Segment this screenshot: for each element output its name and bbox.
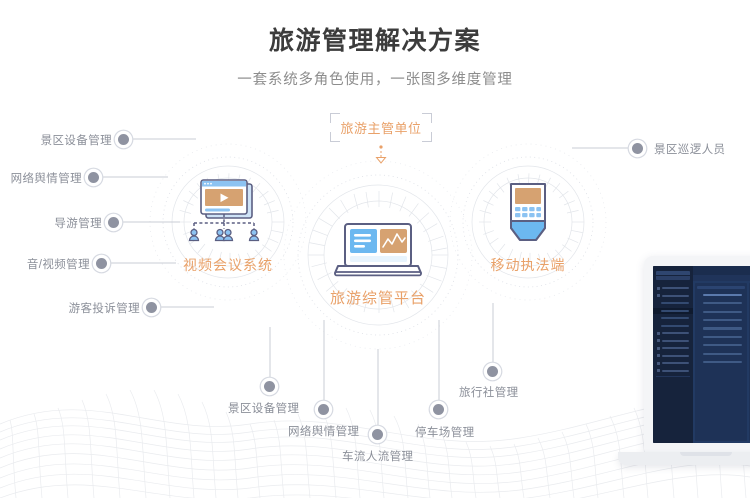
tree-row[interactable] [697,342,745,348]
handheld-device-icon [478,178,578,250]
tree-row[interactable] [697,326,745,332]
dashboard-sidebar-footer [656,376,690,385]
authority-badge-label: 旅游主管单位 [330,113,432,142]
tree-row[interactable] [697,309,745,315]
laptop-lid [644,256,750,453]
laptop-notch [680,452,732,456]
leaf-dot-bottom-0[interactable] [264,381,275,392]
leaf-label-right-0[interactable]: 景区巡逻人员 [654,141,725,157]
dashboard-menu-item[interactable] [653,300,693,307]
dashboard-menu-item[interactable] [653,368,693,375]
dashboard-menu-item[interactable] [653,330,693,337]
tree-row[interactable] [697,351,745,357]
leaf-dot-left-0[interactable] [118,134,129,145]
dashboard-menu-item[interactable] [653,360,693,367]
leaf-dot-bottom-1[interactable] [318,404,329,415]
dashboard-sidebar [653,266,693,443]
leaf-dot-right-0[interactable] [632,143,643,154]
node-label-mobile-enforcement: 移动执法端 [478,255,578,275]
header: 旅游管理解决方案 一套系统多角色使用，一张图多维度管理 [0,24,750,91]
dashboard-main [693,266,750,443]
leaf-label-left-4[interactable]: 游客投诉管理 [28,300,140,316]
leaf-dot-left-2[interactable] [108,217,119,228]
dashboard-topbar [693,266,750,275]
dashboard-ui [653,266,750,443]
leaf-label-bottom-2[interactable]: 车流人流管理 [342,448,413,464]
dashboard-menu-item[interactable] [653,293,693,300]
bottom-connector-lines [270,303,493,434]
leaf-dot-bottom-4[interactable] [487,366,498,377]
tree-row[interactable] [697,359,745,365]
node-label-video-conference: 视频会议系统 [168,255,288,275]
tree-row[interactable] [697,334,745,340]
page-subtitle: 一套系统多角色使用，一张图多维度管理 [0,69,750,91]
leaf-dot-left-3[interactable] [96,258,107,269]
video-window-icon [168,178,288,250]
leaf-label-left-3[interactable]: 音/视频管理 [0,256,90,272]
node-mobile-enforcement[interactable]: 移动执法端 [478,178,578,275]
dashboard-tree-panel[interactable] [695,283,747,441]
node-label-platform: 旅游综管平台 [318,287,438,308]
laptop-dashboard-icon [318,222,438,282]
dashboard-menu-item[interactable] [653,345,693,352]
node-video-conference[interactable]: 视频会议系统 [168,178,288,275]
leaf-label-left-2[interactable]: 导游管理 [0,215,102,231]
laptop-dashboard-mockup [618,256,750,498]
leaf-dot-left-1[interactable] [88,172,99,183]
laptop-screen [653,266,750,443]
badge-arrow-connector [377,145,386,163]
dashboard-menu-item[interactable] [653,285,693,292]
dashboard-menu-item[interactable] [653,315,693,322]
dashboard-menu-item-active[interactable] [653,308,693,315]
dashboard-menu-item[interactable] [653,323,693,330]
node-platform[interactable]: 旅游综管平台 [318,222,438,308]
authority-badge[interactable]: 旅游主管单位 [330,113,432,142]
leaf-label-left-0[interactable]: 景区设备管理 [0,132,112,148]
leaf-label-bottom-1[interactable]: 网络舆情管理 [288,423,359,439]
leaf-label-bottom-4[interactable]: 旅行社管理 [459,384,519,400]
leaf-dot-left-4[interactable] [146,302,157,313]
page-title: 旅游管理解决方案 [0,24,750,58]
dashboard-menu-item[interactable] [653,353,693,360]
dashboard-menu-item[interactable] [653,338,693,345]
dashboard-logo [656,271,690,280]
leaf-label-left-1[interactable]: 网络舆情管理 [0,170,82,186]
tree-row[interactable] [697,292,745,298]
leaf-dot-bottom-2[interactable] [372,429,383,440]
tree-row[interactable] [697,317,745,323]
leaf-label-bottom-3[interactable]: 停车场管理 [415,424,475,440]
infographic-canvas: 旅游管理解决方案 一套系统多角色使用，一张图多维度管理 旅游主管单位 [0,0,750,498]
leaf-dot-bottom-3[interactable] [433,404,444,415]
dashboard-body [693,281,750,443]
leaf-label-bottom-0[interactable]: 景区设备管理 [228,400,299,416]
tree-row[interactable] [697,300,745,306]
